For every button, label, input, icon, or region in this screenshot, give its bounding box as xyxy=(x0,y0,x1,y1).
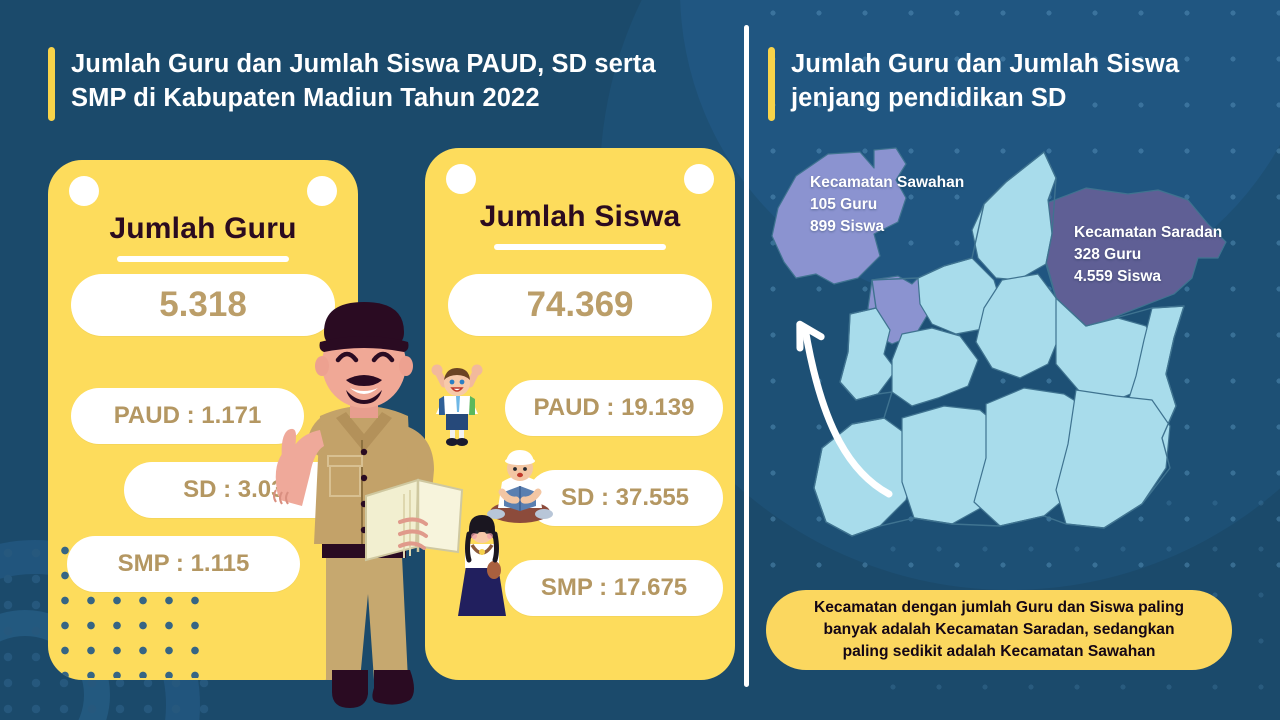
map-label-sawahan: Kecamatan Sawahan 105 Guru 899 Siswa xyxy=(810,172,964,238)
card-siswa-item-smp: SMP : 17.675 xyxy=(505,560,723,616)
summary-note: Kecamatan dengan jumlah Guru dan Siswa p… xyxy=(766,590,1232,670)
card-siswa-total-value: 74.369 xyxy=(448,274,712,336)
punch-hole-left-icon xyxy=(446,164,476,194)
card-heading-underline xyxy=(494,244,666,250)
left-panel-title: Jumlah Guru dan Jumlah Siswa PAUD, SD se… xyxy=(48,47,656,121)
right-panel-title-text: Jumlah Guru dan Jumlah Siswa jenjang pen… xyxy=(791,47,1179,115)
panel-divider xyxy=(744,25,749,687)
card-guru-heading: Jumlah Guru xyxy=(48,212,358,246)
title-accent-bar xyxy=(48,47,55,121)
map-region-base-southeast xyxy=(1056,390,1170,528)
map-region-base-north xyxy=(972,152,1056,280)
right-panel-title: Jumlah Guru dan Jumlah Siswa jenjang pen… xyxy=(768,47,1179,121)
punch-hole-right-icon xyxy=(684,164,714,194)
teacher-illustration xyxy=(254,300,474,720)
punch-hole-left-icon xyxy=(69,176,99,206)
left-panel-title-text: Jumlah Guru dan Jumlah Siswa PAUD, SD se… xyxy=(71,47,656,115)
map-region-base-midwest xyxy=(892,328,978,406)
punch-hole-right-icon xyxy=(307,176,337,206)
title-accent-bar xyxy=(768,47,775,121)
card-siswa-item-paud: PAUD : 19.139 xyxy=(505,380,723,436)
card-heading-underline xyxy=(117,256,289,262)
infographic-canvas: Jumlah Guru dan Jumlah Siswa PAUD, SD se… xyxy=(0,0,1280,720)
map-label-saradan: Kecamatan Saradan 328 Guru 4.559 Siswa xyxy=(1074,222,1222,288)
card-siswa-heading: Jumlah Siswa xyxy=(425,200,735,234)
